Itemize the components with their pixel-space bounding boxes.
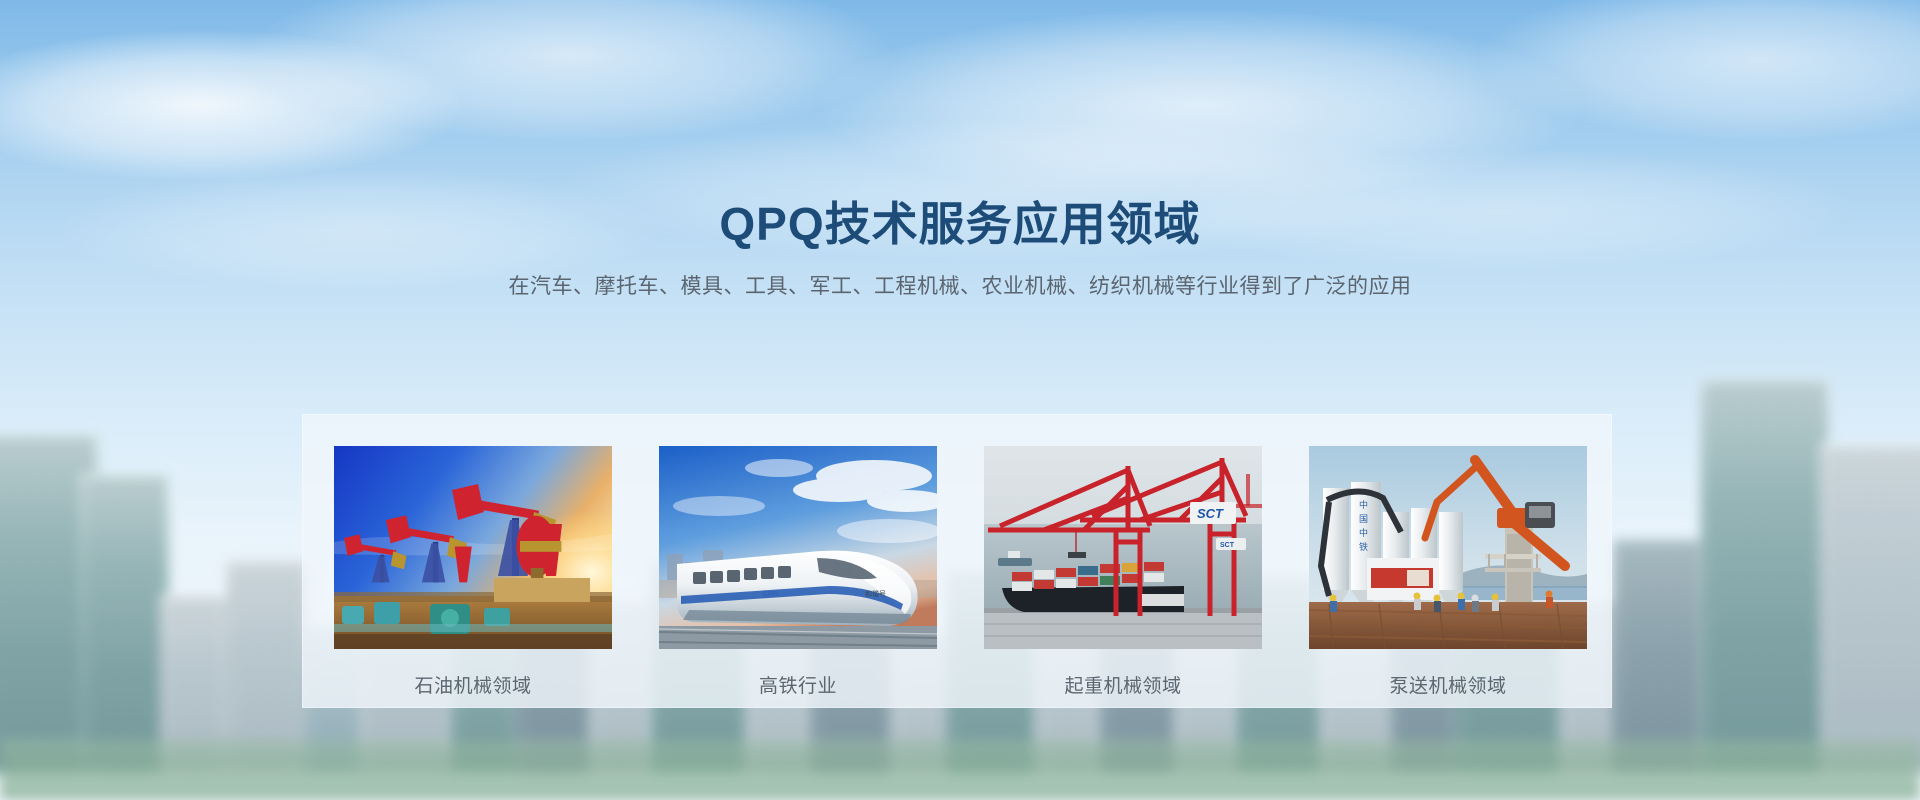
svg-text:中: 中 <box>1359 499 1368 510</box>
gantry-cranes-image[interactable]: SCT SCT <box>984 446 1262 649</box>
svg-text:铁: 铁 <box>1359 541 1368 552</box>
concrete-pump-image[interactable]: 中国 中铁 <box>1309 446 1587 649</box>
card-caption: 起重机械领域 <box>984 671 1262 698</box>
card-grid: 石油机械领域 <box>334 446 1587 698</box>
svg-text:SCT: SCT <box>1197 506 1224 521</box>
oil-pumpjacks-image[interactable] <box>334 446 612 649</box>
card-caption: 石油机械领域 <box>334 671 612 698</box>
card-caption: 高铁行业 <box>659 671 937 698</box>
svg-text:国: 国 <box>1359 514 1368 524</box>
svg-text:SCT: SCT <box>1220 542 1235 549</box>
card-item[interactable]: 中国 中铁 <box>1309 446 1587 698</box>
card-item[interactable]: CRH 和谐号 高铁行 <box>659 446 937 698</box>
svg-text:和谐号: 和谐号 <box>865 589 886 598</box>
card-item[interactable]: SCT SCT 起重机械领域 <box>984 446 1262 698</box>
page-title: QPQ技术服务应用领域 <box>0 196 1920 254</box>
card-item[interactable]: 石油机械领域 <box>334 446 612 698</box>
high-speed-train-image[interactable]: CRH 和谐号 <box>659 446 937 649</box>
page-subtitle: 在汽车、摩托车、模具、工具、军工、工程机械、农业机械、纺织机械等行业得到了广泛的… <box>0 272 1920 301</box>
card-caption: 泵送机械领域 <box>1309 671 1587 698</box>
hero-headings: QPQ技术服务应用领域 在汽车、摩托车、模具、工具、军工、工程机械、农业机械、纺… <box>0 0 1920 301</box>
svg-text:CRH: CRH <box>763 591 778 598</box>
svg-text:中: 中 <box>1359 527 1368 538</box>
hero-banner: QPQ技术服务应用领域 在汽车、摩托车、模具、工具、军工、工程机械、农业机械、纺… <box>0 0 1920 800</box>
application-fields-panel: 石油机械领域 <box>302 414 1612 708</box>
